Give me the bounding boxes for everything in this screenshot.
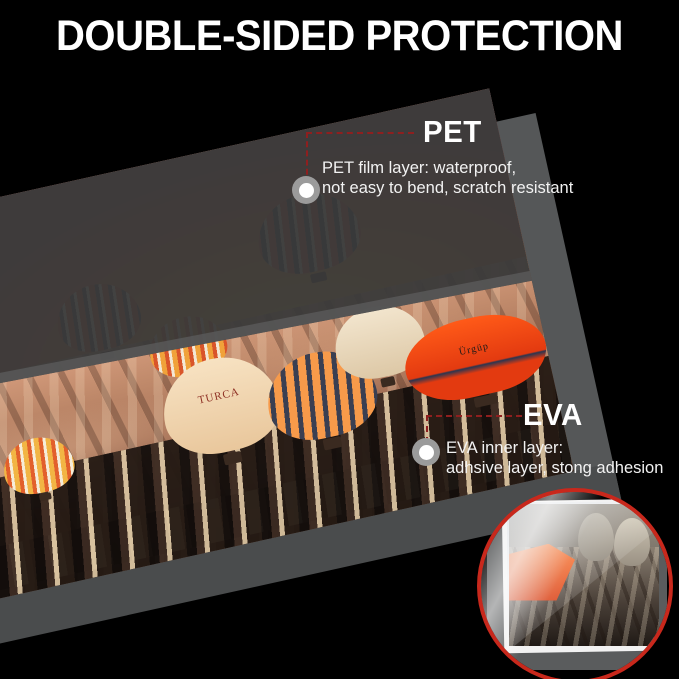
- infographic-canvas: DOUBLE-SIDED PROTECTION TURCA Ürgüp: [0, 0, 679, 679]
- pet-description: PET film layer: waterproof, not easy to …: [322, 158, 622, 198]
- magnifier-inset: [477, 488, 673, 679]
- pet-heading: PET: [423, 116, 482, 147]
- eva-connector-horizontal: [426, 415, 522, 417]
- eva-marker-dot-core: [419, 445, 434, 460]
- eva-heading: EVA: [523, 399, 583, 430]
- pet-marker-dot-core: [299, 183, 314, 198]
- eva-marker-dot: [412, 438, 440, 466]
- pet-marker-dot: [292, 176, 320, 204]
- balloon-label-urgup: Ürgüp: [403, 329, 545, 371]
- page-title: DOUBLE-SIDED PROTECTION: [24, 13, 655, 59]
- pet-connector-horizontal: [306, 132, 414, 134]
- eva-description: EVA inner layer: adhsive layer, stong ad…: [446, 438, 679, 478]
- balloon-label-turca: TURCA: [161, 378, 277, 415]
